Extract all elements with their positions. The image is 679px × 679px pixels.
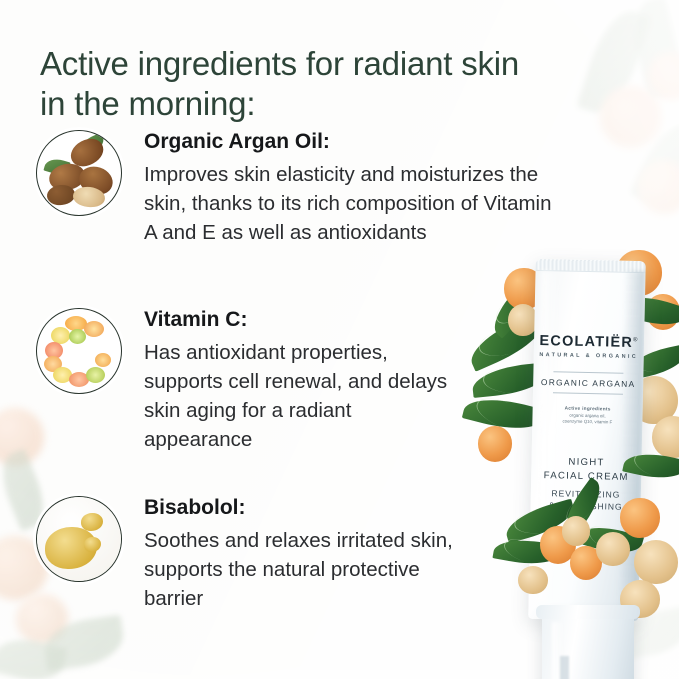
ingredient-title: Organic Argan Oil:	[144, 130, 624, 155]
infographic-canvas: Active ingredients for radiant skin in t…	[0, 0, 679, 679]
page-title: Active ingredients for radiant skin in t…	[40, 44, 640, 125]
ingredient-body: Improves skin elasticity and moisturizes…	[144, 160, 624, 247]
vitamin-c-citrus-icon	[36, 308, 122, 394]
ingredient-item-argan-oil: Organic Argan Oil: Improves skin elastic…	[36, 130, 636, 260]
ingredient-title: Bisabolol:	[144, 496, 624, 521]
faded-fruit-icon	[638, 160, 679, 214]
ingredient-body: Has antioxidant properties, supports cel…	[144, 338, 624, 454]
faded-leaf-icon	[629, 116, 679, 210]
ingredient-body-line: Improves skin elasticity and moisturizes…	[144, 160, 624, 189]
headline-line-2: in the morning:	[40, 84, 640, 124]
headline-line-1: Active ingredients for radiant skin	[40, 44, 640, 84]
ingredient-body-line: Has antioxidant properties,	[144, 338, 624, 367]
ingredient-body-line: skin, thanks to its rich composition of …	[144, 189, 624, 218]
faded-leaf-icon	[0, 632, 68, 679]
ingredient-item-bisabolol: Bisabolol: Soothes and relaxes irritated…	[36, 496, 636, 626]
ingredient-body-line: Soothes and relaxes irritated skin,	[144, 526, 624, 555]
ingredient-item-vitamin-c: Vitamin C: Has antioxidant properties, s…	[36, 308, 636, 458]
ingredient-body-line: appearance	[144, 425, 624, 454]
ingredient-body-line: supports the natural protective	[144, 555, 624, 584]
ingredient-body: Soothes and relaxes irritated skin, supp…	[144, 526, 624, 613]
argan-nuts-icon	[36, 130, 122, 216]
ingredient-body-line: supports cell renewal, and delays	[144, 367, 624, 396]
ingredient-body-line: skin aging for a radiant	[144, 396, 624, 425]
ingredient-body-line: A and E as well as antioxidants	[144, 218, 624, 247]
bisabolol-oil-drop-icon	[36, 496, 122, 582]
faded-fruit-icon	[648, 52, 679, 100]
ingredient-body-line: barrier	[144, 584, 624, 613]
ingredient-title: Vitamin C:	[144, 308, 624, 333]
